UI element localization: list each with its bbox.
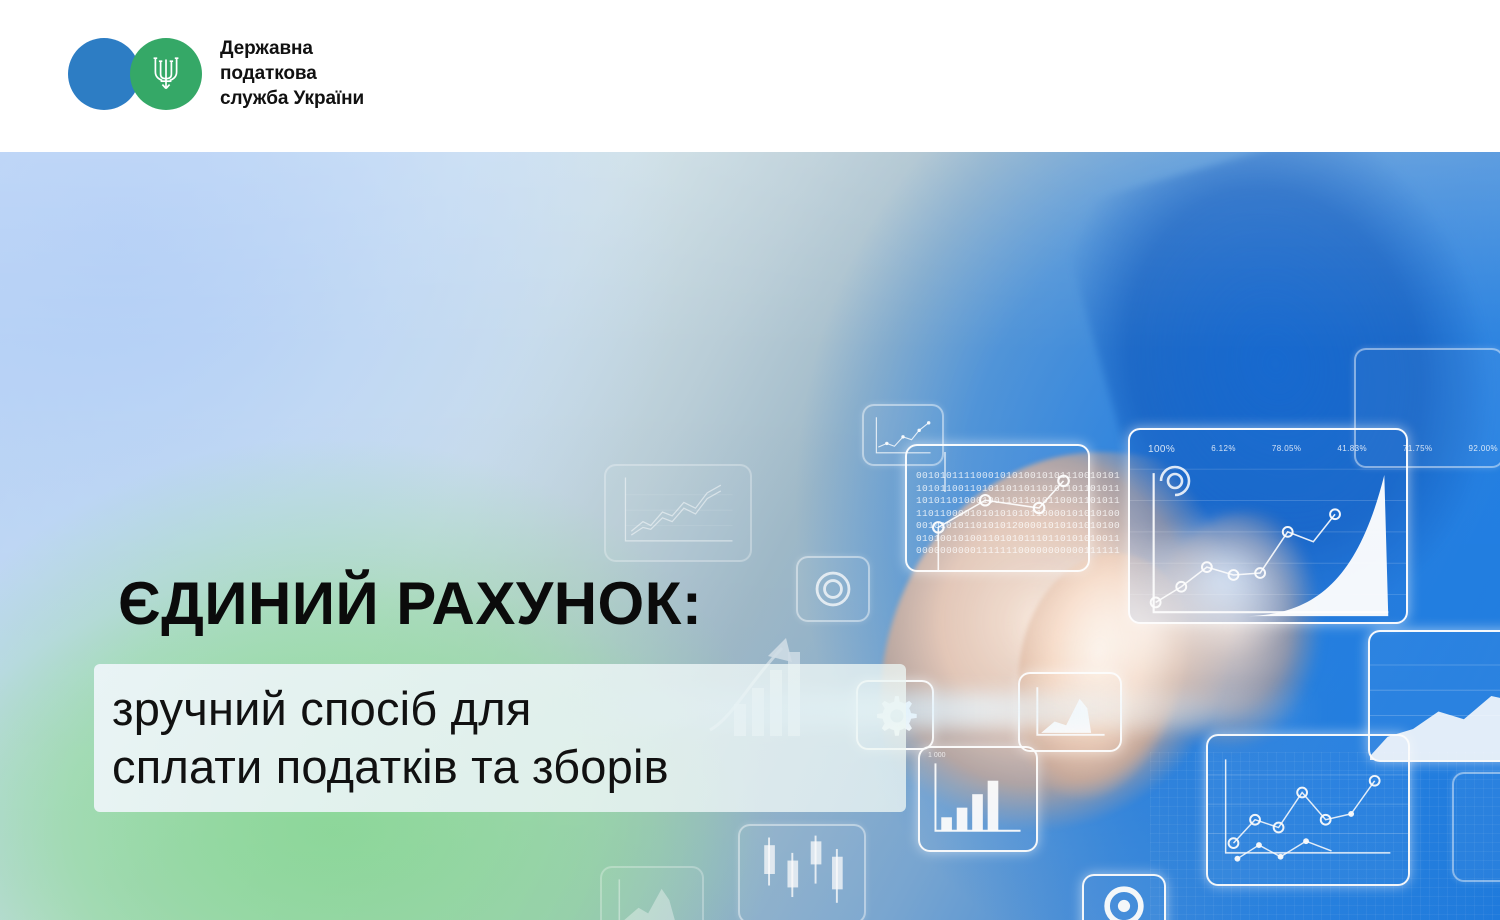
- hero-image: 0010101111000101010010101110010101 10101…: [0, 152, 1500, 920]
- green-circle-trident-mark-icon: [130, 38, 202, 110]
- promo-banner: Державна податкова служба України: [0, 0, 1500, 920]
- logo-marks: [68, 38, 202, 110]
- organization-name: Державна податкова служба України: [220, 36, 364, 111]
- site-header: Державна податкова служба України: [0, 0, 1500, 152]
- ukraine-trident-icon: [149, 52, 183, 96]
- page-subtitle: зручний спосіб для сплати податків та зб…: [112, 680, 669, 796]
- page-title: ЄДИНИЙ РАХУНОК:: [118, 574, 702, 634]
- logo-block[interactable]: Державна податкова служба України: [68, 36, 364, 111]
